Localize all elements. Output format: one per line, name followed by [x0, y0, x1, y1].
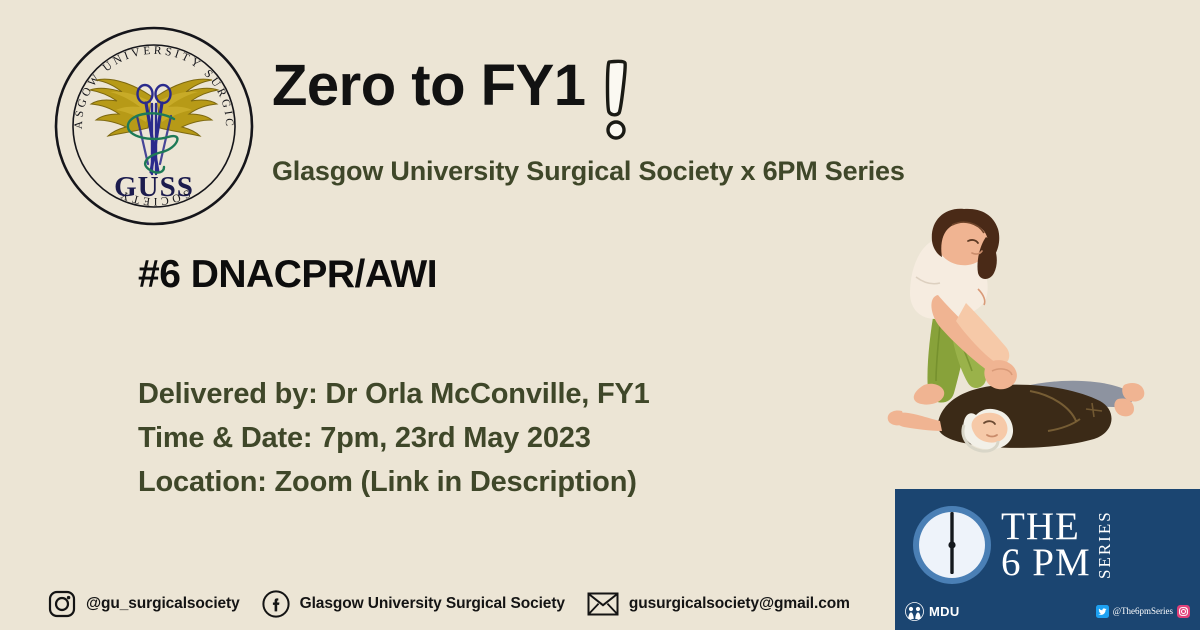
- series-word-the: THE: [1001, 509, 1091, 545]
- email-envelope-icon[interactable]: [587, 591, 619, 617]
- cpr-chest-compression-illustration: [880, 185, 1180, 465]
- twitter-bird-icon[interactable]: [1096, 605, 1109, 618]
- title-block: Zero to FY1 Glasgow University Surgical …: [272, 56, 1032, 187]
- detail-location: Location: Zoom (Link in Description): [138, 460, 650, 504]
- contact-bar: @gu_surgicalsociety Glasgow University S…: [0, 578, 880, 630]
- series-wordmark: THE 6 PM SERIES: [1001, 506, 1115, 584]
- series-card-footer: MDU @The6pmSeries: [895, 598, 1200, 624]
- contact-facebook-label: Glasgow University Surgical Society: [300, 595, 565, 613]
- mdu-sponsor: MDU: [905, 602, 960, 621]
- series-word-series: SERIES: [1095, 506, 1115, 584]
- facebook-icon[interactable]: [262, 590, 290, 618]
- series-logo: THE 6 PM SERIES: [911, 497, 1186, 593]
- detail-speaker: Delivered by: Dr Orla McConville, FY1: [138, 372, 650, 416]
- contact-instagram[interactable]: @gu_surgicalsociety: [48, 590, 240, 618]
- instagram-icon[interactable]: [1177, 605, 1190, 618]
- exclamation-mark-icon: [600, 58, 634, 144]
- contact-instagram-label: @gu_surgicalsociety: [86, 595, 240, 613]
- illustration-rescuer: [910, 209, 1017, 405]
- crest-monogram: GUSS: [114, 171, 194, 203]
- series-word-6pm: 6 PM: [1001, 545, 1091, 581]
- mdu-label: MDU: [929, 604, 960, 619]
- series-social-handle[interactable]: @The6pmSeries: [1096, 605, 1190, 618]
- six-pm-series-card: THE 6 PM SERIES MDU: [895, 489, 1200, 630]
- guss-crest-logo: GLASGOW UNIVERSITY SURGICAL SOCIETY: [52, 24, 256, 228]
- page-title: Zero to FY1: [272, 56, 1032, 144]
- session-details: Delivered by: Dr Orla McConville, FY1 Ti…: [138, 372, 650, 504]
- event-poster: GLASGOW UNIVERSITY SURGICAL SOCIETY: [0, 0, 1200, 630]
- detail-time-date: Time & Date: 7pm, 23rd May 2023: [138, 416, 650, 460]
- event-title-text: Zero to FY1: [272, 56, 586, 117]
- series-handle-label: @The6pmSeries: [1113, 606, 1173, 616]
- mdu-logo-icon: [905, 602, 924, 621]
- six-oclock-clock-icon: [911, 504, 993, 586]
- contact-email[interactable]: gusurgicalsociety@gmail.com: [587, 591, 850, 617]
- instagram-icon[interactable]: [48, 590, 76, 618]
- contact-email-label: gusurgicalsociety@gmail.com: [629, 595, 850, 613]
- page-subtitle: Glasgow University Surgical Society x 6P…: [272, 156, 1032, 187]
- contact-facebook[interactable]: Glasgow University Surgical Society: [262, 590, 565, 618]
- session-heading: #6 DNACPR/AWI: [138, 253, 437, 297]
